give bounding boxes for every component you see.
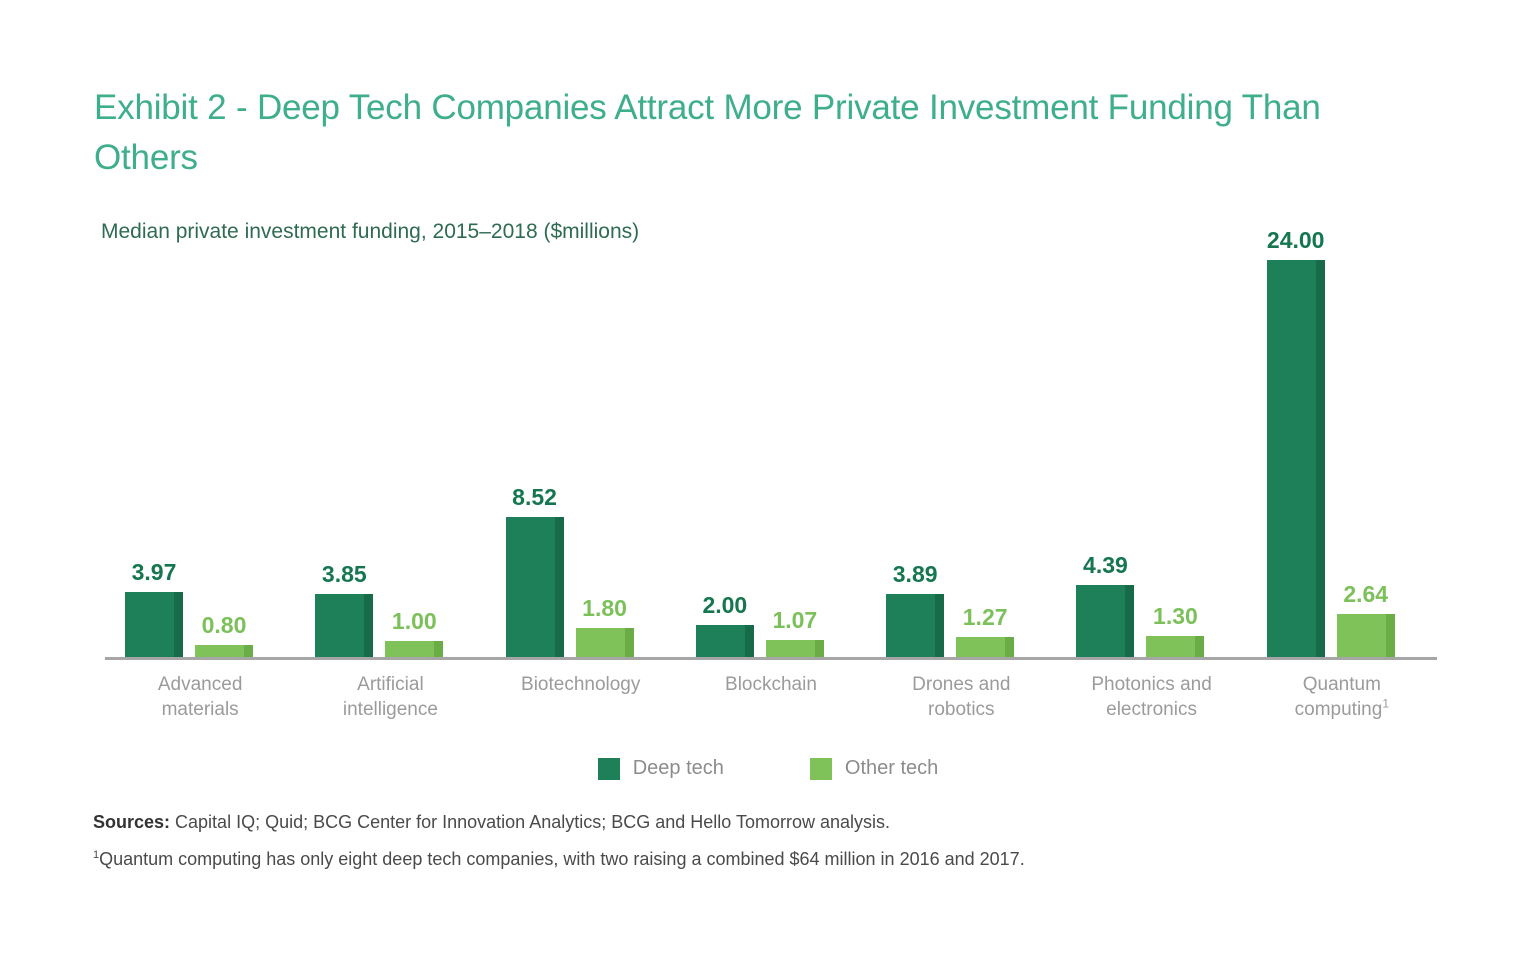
x-axis-label-3: Blockchain: [676, 672, 866, 697]
bar-group: 8.521.80: [506, 260, 634, 658]
bar-deep-tech-0[interactable]: 3.97: [125, 592, 183, 658]
bar-deep-tech-1[interactable]: 3.85: [315, 594, 373, 658]
bar-other-tech-1[interactable]: 1.00: [385, 641, 443, 658]
bar-shadow-edge: [935, 594, 944, 659]
sources-text: Capital IQ; Quid; BCG Center for Innovat…: [170, 812, 890, 832]
x-axis-label-line: Photonics and: [1056, 672, 1246, 697]
bar-other-tech-0[interactable]: 0.80: [195, 645, 253, 658]
x-axis-label-line: computing1: [1247, 697, 1437, 722]
x-axis-label-line: materials: [105, 697, 295, 722]
legend-item-deep-tech[interactable]: Deep tech: [598, 757, 724, 780]
x-axis-label-line: electronics: [1056, 697, 1246, 722]
bar-value-label: 1.30: [1153, 603, 1198, 630]
bar-group: 24.002.64: [1267, 260, 1395, 658]
bar-shadow-edge: [244, 645, 253, 658]
bar-value-label: 1.80: [582, 595, 627, 622]
x-axis-label-6: Quantumcomputing1: [1247, 672, 1437, 722]
chart-legend: Deep tech Other tech: [0, 757, 1536, 780]
bar-shadow-edge: [364, 594, 373, 658]
bar-shadow-edge: [1316, 260, 1325, 658]
quantum-computing-footnote: 1Quantum computing has only eight deep t…: [93, 849, 1025, 870]
sources-label: Sources:: [93, 812, 170, 832]
bar-chart-plot-area: 3.970.803.851.008.521.802.001.073.891.27…: [105, 260, 1437, 658]
bar-value-label: 0.80: [202, 612, 247, 639]
bar-shadow-edge: [815, 640, 824, 658]
bar-shadow-edge: [1386, 614, 1395, 658]
bar-deep-tech-4[interactable]: 3.89: [886, 594, 944, 659]
x-axis-label-5: Photonics andelectronics: [1056, 672, 1246, 722]
bar-other-tech-3[interactable]: 1.07: [766, 640, 824, 658]
bar-value-label: 2.00: [702, 592, 747, 619]
x-axis-label-line: Advanced: [105, 672, 295, 697]
bar-shadow-edge: [745, 625, 754, 658]
page-title: Exhibit 2 - Deep Tech Companies Attract …: [94, 83, 1424, 183]
bar-other-tech-6[interactable]: 2.64: [1337, 614, 1395, 658]
x-axis-label-line: Quantum: [1247, 672, 1437, 697]
legend-label-other-tech: Other tech: [845, 757, 938, 780]
bar-value-label: 1.00: [392, 608, 437, 635]
bar-shadow-edge: [1125, 585, 1134, 658]
bar-deep-tech-6[interactable]: 24.00: [1267, 260, 1325, 658]
bar-group: 3.891.27: [886, 260, 1014, 658]
bar-other-tech-4[interactable]: 1.27: [956, 637, 1014, 658]
bar-group: 4.391.30: [1076, 260, 1204, 658]
x-axis-label-1: Artificialintelligence: [295, 672, 485, 722]
bar-deep-tech-3[interactable]: 2.00: [696, 625, 754, 658]
bar-shadow-edge: [555, 517, 564, 658]
bar-value-label: 8.52: [512, 484, 557, 511]
bar-other-tech-5[interactable]: 1.30: [1146, 636, 1204, 658]
bar-value-label: 2.64: [1343, 581, 1388, 608]
bar-other-tech-2[interactable]: 1.80: [576, 628, 634, 658]
x-axis-label-line: robotics: [866, 697, 1056, 722]
bar-deep-tech-2[interactable]: 8.52: [506, 517, 564, 658]
bar-value-label: 1.07: [772, 607, 817, 634]
bar-shadow-edge: [1005, 637, 1014, 658]
x-axis-label-4: Drones androbotics: [866, 672, 1056, 722]
bar-shadow-edge: [434, 641, 443, 658]
x-axis-label-line: Drones and: [866, 672, 1056, 697]
bar-shadow-edge: [1195, 636, 1204, 658]
square-swatch-icon: [598, 758, 620, 780]
x-axis-line: [105, 657, 1437, 660]
bar-shadow-edge: [625, 628, 634, 658]
exhibit-page: Exhibit 2 - Deep Tech Companies Attract …: [0, 0, 1536, 954]
square-swatch-icon: [810, 758, 832, 780]
bar-group: 2.001.07: [696, 260, 824, 658]
bar-deep-tech-5[interactable]: 4.39: [1076, 585, 1134, 658]
bar-shadow-edge: [174, 592, 183, 658]
bar-value-label: 24.00: [1267, 227, 1325, 254]
legend-item-other-tech[interactable]: Other tech: [810, 757, 938, 780]
bar-value-label: 1.27: [963, 604, 1008, 631]
bar-value-label: 3.89: [893, 561, 938, 588]
x-axis-label-line: intelligence: [295, 697, 485, 722]
bar-group: 3.970.80: [125, 260, 253, 658]
bar-value-label: 4.39: [1083, 552, 1128, 579]
x-axis-label-2: Biotechnology: [486, 672, 676, 697]
x-axis-label-line: Blockchain: [676, 672, 866, 697]
bar-value-label: 3.85: [322, 561, 367, 588]
legend-label-deep-tech: Deep tech: [633, 757, 724, 780]
sources-footnote: Sources: Capital IQ; Quid; BCG Center fo…: [93, 812, 890, 833]
bar-group: 3.851.00: [315, 260, 443, 658]
footnote-text: Quantum computing has only eight deep te…: [99, 849, 1025, 869]
x-axis-label-0: Advancedmaterials: [105, 672, 295, 722]
chart-subtitle: Median private investment funding, 2015–…: [101, 220, 639, 244]
x-axis-label-line: Artificial: [295, 672, 485, 697]
bar-value-label: 3.97: [132, 559, 177, 586]
x-axis-label-line: Biotechnology: [486, 672, 676, 697]
